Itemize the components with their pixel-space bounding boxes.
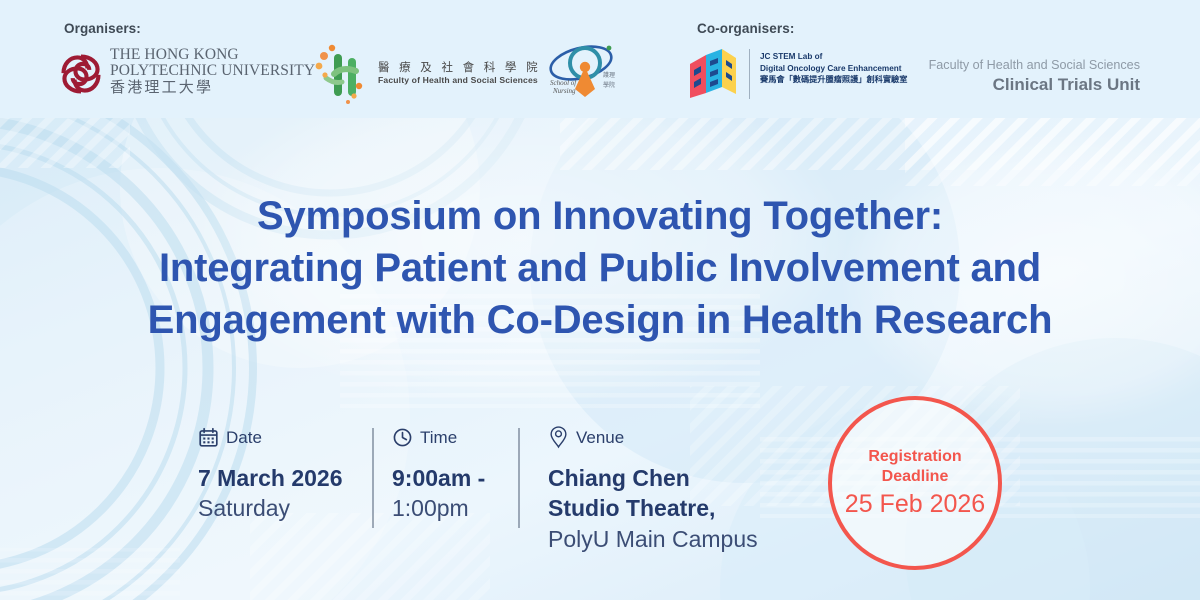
svg-text:護理: 護理 [603,71,615,79]
polyu-line-2: POLYTECHNIC UNIVERSITY [110,63,290,79]
school-of-nursing-logo: School of Nursing 護理 學院 [545,41,621,103]
venue-value-line-2: Studio Theatre, [548,493,813,523]
time-label: Time [420,429,457,446]
organisers-label: Organisers: [64,21,141,36]
co-organisers-label: Co-organisers: [697,21,794,36]
polyu-chinese: 香港理工大學 [110,79,290,96]
fhss-english: Faculty of Health and Social Sciences [378,75,528,86]
jc-stem-cube-icon [686,46,740,102]
registration-deadline-badge: Registration Deadline 25 Feb 2026 [828,396,1002,570]
title-line-3: Engagement with Co-Design in Health Rese… [0,294,1200,346]
event-details: Date 7 March 2026 Saturday Time 9:00am -… [0,425,1200,555]
date-label: Date [226,429,262,446]
date-value: 7 March 2026 [198,463,373,493]
deadline-line-2: Deadline [882,467,949,487]
polyu-knot-icon [58,50,104,98]
calendar-icon [198,427,219,448]
detail-time: Time 9:00am - 1:00pm [392,425,522,524]
venue-value-line-1: Chiang Chen [548,463,813,493]
svg-text:School of: School of [550,79,577,87]
fhss-mark-icon [312,42,374,104]
school-of-nursing-mark-icon: School of Nursing 護理 學院 [545,41,621,103]
fhss-logo-text: 醫 療 及 社 會 科 學 院 Faculty of Health and So… [378,60,528,86]
clinical-trials-unit-logo: Faculty of Health and Social Sciences Cl… [900,57,1140,99]
symposium-banner: Organisers: Co-organisers: THE HONG KONG… [0,0,1200,600]
venue-label: Venue [576,429,624,446]
fhss-chinese: 醫 療 及 社 會 科 學 院 [378,60,528,75]
detail-date: Date 7 March 2026 Saturday [198,425,373,524]
stem-divider [749,49,750,99]
location-pin-icon [548,425,569,449]
deadline-line-1: Registration [868,447,961,467]
jc-stem-line-2: Digital Oncology Care Enhancement [760,63,920,75]
jc-stem-chinese: 賽馬會「數碼提升腫瘤照護」創科實驗室 [760,74,920,86]
title-line-2: Integrating Patient and Public Involveme… [0,242,1200,294]
header-bar: Organisers: Co-organisers: THE HONG KONG… [0,0,1200,118]
svg-text:學院: 學院 [603,81,615,89]
detail-venue: Venue Chiang Chen Studio Theatre, PolyU … [548,425,813,554]
polyu-logo: THE HONG KONG POLYTECHNIC UNIVERSITY 香港理… [58,47,288,103]
clock-icon [392,427,413,448]
deadline-date: 25 Feb 2026 [845,489,985,519]
svg-text:Nursing: Nursing [552,87,576,95]
title-line-1: Symposium on Innovating Together: [0,190,1200,242]
jc-stem-line-1: JC STEM Lab of [760,51,920,63]
time-value: 9:00am - [392,463,522,493]
venue-campus: PolyU Main Campus [548,524,813,554]
ctu-line-2: Clinical Trials Unit [900,74,1140,97]
polyu-line-1: THE HONG KONG [110,47,290,63]
date-weekday: Saturday [198,493,373,523]
jc-stem-logo-text: JC STEM Lab of Digital Oncology Care Enh… [760,51,920,86]
jc-stem-lab-logo: JC STEM Lab of Digital Oncology Care Enh… [686,46,918,102]
ctu-line-1: Faculty of Health and Social Sciences [900,57,1140,74]
faculty-health-social-sciences-logo: 醫 療 及 社 會 科 學 院 Faculty of Health and So… [312,42,524,104]
time-value-end: 1:00pm [392,493,522,523]
polyu-logo-text: THE HONG KONG POLYTECHNIC UNIVERSITY 香港理… [110,47,290,96]
page-title: Symposium on Innovating Together: Integr… [0,190,1200,346]
